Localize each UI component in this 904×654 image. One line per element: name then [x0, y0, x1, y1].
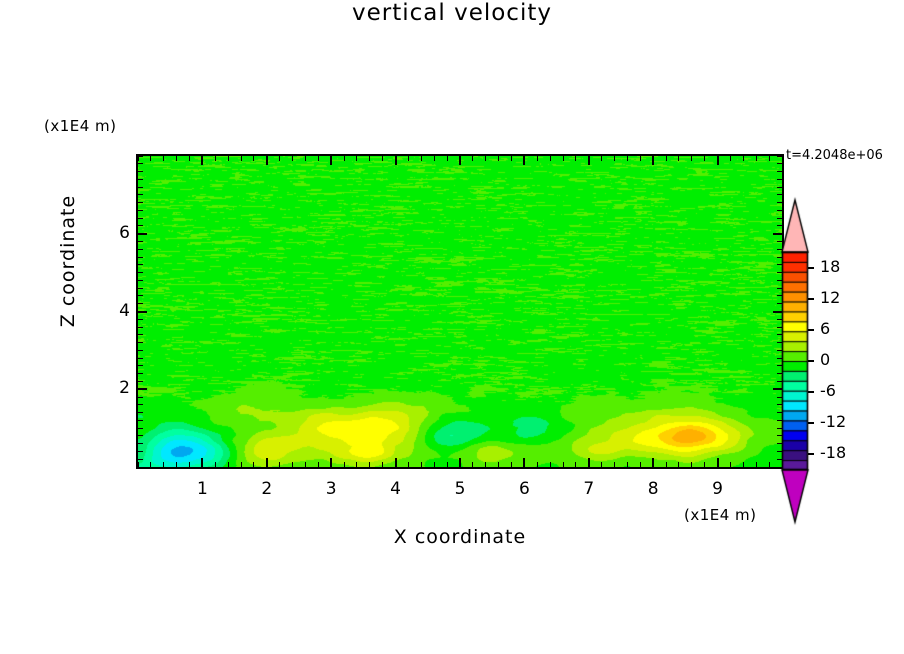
colorbar-tick-label: 12 — [820, 288, 840, 307]
heatmap-field — [138, 156, 782, 467]
y-tick-label: 6 — [90, 223, 130, 243]
colorbar-tick-label: 6 — [820, 319, 830, 338]
colorbar-tick — [808, 391, 814, 393]
x-tick-label: 9 — [698, 479, 738, 499]
colorbar-tick-label: 0 — [820, 350, 830, 369]
colorbar: 181260-6-12-18 — [778, 196, 898, 526]
colorbar-tick — [808, 453, 814, 455]
x-axis-unit-label: (x1E4 m) — [684, 506, 757, 524]
x-tick-label: 4 — [376, 479, 416, 499]
page-title: vertical velocity — [0, 0, 904, 26]
x-tick-label: 2 — [247, 479, 287, 499]
y-axis-unit-label: (x1E4 m) — [44, 117, 117, 135]
colorbar-tick-label: -12 — [820, 412, 846, 431]
y-tick-label: 4 — [90, 301, 130, 321]
plot-area — [136, 154, 784, 469]
colorbar-tick — [808, 329, 814, 331]
x-tick-label: 6 — [504, 479, 544, 499]
x-tick-label: 8 — [633, 479, 673, 499]
y-axis-title: Z coordinate — [57, 171, 79, 351]
colorbar-tick-label: 18 — [820, 257, 840, 276]
time-annotation: t=4.2048e+06 — [786, 148, 883, 163]
x-tick-label: 1 — [182, 479, 222, 499]
colorbar-tick — [808, 267, 814, 269]
colorbar-tick — [808, 360, 814, 362]
colorbar-tick — [808, 422, 814, 424]
plot-title-text: vertical velocity — [352, 0, 552, 26]
colorbar-gradient — [778, 196, 898, 526]
x-tick-label: 7 — [569, 479, 609, 499]
colorbar-tick — [808, 298, 814, 300]
x-axis-title: X coordinate — [136, 526, 784, 548]
colorbar-tick-label: -18 — [820, 443, 846, 462]
colorbar-tick-label: -6 — [820, 381, 836, 400]
y-tick-label: 2 — [90, 378, 130, 398]
x-tick-label: 3 — [311, 479, 351, 499]
x-tick-label: 5 — [440, 479, 480, 499]
